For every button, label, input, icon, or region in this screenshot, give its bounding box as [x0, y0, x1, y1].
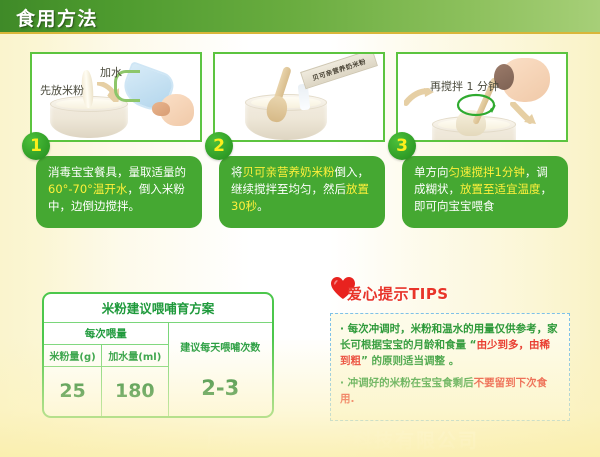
- feeding-table: 米粉建议喂哺育方案 每次喂量 建议每天喂哺次数 2-3 米粉量(g) 加水量(m…: [44, 294, 272, 417]
- step-1-illustration: 先放米粉 加水: [30, 52, 202, 142]
- step-1-desc-highlight: 60°-70°温开水: [48, 182, 127, 196]
- step-3-desc-highlight-0: 匀速搅拌1分钟: [449, 165, 525, 179]
- company-watermark: 广州百多邦医药科技有限公司: [0, 426, 600, 453]
- step-1-desc-part-0: 消毒宝宝餐具，量取适量的: [48, 165, 186, 179]
- step-2-desc-part-0: 将: [231, 165, 243, 179]
- step-3-illustration: 再搅拌 1 分钟: [396, 52, 568, 142]
- step-2-number-badge: 2: [205, 132, 233, 160]
- step-1-label-1: 加水: [100, 64, 122, 80]
- step-3-description: 单方向匀速搅拌1分钟，调成糊状，放置至适宜温度，即可向宝宝喂食: [402, 156, 568, 228]
- step-2-description: 将贝可亲营养奶米粉倒入，继续搅拌至均匀，然后放置30秒。: [219, 156, 385, 228]
- package-box: 贝可亲营养奶米粉: [300, 52, 378, 89]
- table-title: 米粉建议喂哺育方案: [44, 294, 272, 322]
- section-header-bar: 食用方法: [0, 0, 600, 34]
- step-3-number-badge: 3: [388, 132, 416, 160]
- tips-item-0: · 每次冲调时，米粉和温水的用量仅供参考，家长可根据宝宝的月龄和食量 “由少到多…: [340, 321, 560, 369]
- step-3-desc-highlight-1: 放置至适宜温度: [460, 182, 541, 196]
- tips-item-0-part-2: ” 的原则适当调整 。: [361, 355, 459, 367]
- thumb-shape: [152, 102, 170, 116]
- tips-item-1: · 冲调好的米粉在宝宝食剩后不要留到下次食用.: [340, 375, 560, 407]
- step-3-desc-part-0: 单方向: [414, 165, 449, 179]
- step-3-label-0: 再搅拌 1 分钟: [430, 78, 499, 94]
- table-group-header: 每次喂量: [44, 322, 168, 344]
- table-col-header-1: 加水量(ml): [102, 344, 168, 366]
- feeding-plan-table: 米粉建议喂哺育方案 每次喂量 建议每天喂哺次数 2-3 米粉量(g) 加水量(m…: [42, 292, 274, 418]
- table-value-1: 180: [102, 366, 168, 416]
- step-3: 再搅拌 1 分钟 3 单方向匀速搅拌1分钟，调成糊状，放置至适宜温度，即可向宝宝…: [396, 52, 574, 234]
- tips-content-box: · 每次冲调时，米粉和温水的用量仅供参考，家长可根据宝宝的月龄和食量 “由少到多…: [330, 313, 570, 421]
- table-value-0: 25: [44, 366, 102, 416]
- step-2-desc-part-4: 。: [257, 199, 269, 213]
- table-row-group-header: 每次喂量 建议每天喂哺次数 2-3: [44, 322, 272, 344]
- step-2-desc-highlight-0: 贝可亲营养奶米粉: [243, 165, 335, 179]
- page-background: 食用方法 先放米粉 加水 1: [0, 0, 600, 457]
- step-2: 贝可亲营养奶米粉 2 将贝可亲营养奶米粉倒入，继续搅拌至均匀，然后放置30秒。: [213, 52, 391, 234]
- table-right-value: 2-3: [169, 376, 272, 400]
- tips-item-1-part-0: · 冲调好的米粉在宝宝食剩后: [340, 377, 474, 389]
- stir-circle-arrow-icon: [456, 92, 498, 118]
- table-col-header-0: 米粉量(g): [44, 344, 102, 366]
- tips-title: 爱心提示TIPS: [347, 283, 449, 304]
- step-1: 先放米粉 加水 1 消毒宝宝餐具，量取适量的60°-70°温开水，倒入米粉中，边…: [30, 52, 208, 234]
- table-right-header: 建议每天喂哺次数: [169, 339, 272, 354]
- step-1-label-0: 先放米粉: [40, 82, 84, 98]
- step-1-number-badge: 1: [22, 132, 50, 160]
- step-1-description: 消毒宝宝餐具，量取适量的60°-70°温开水，倒入米粉中，边倒边搅拌。: [36, 156, 202, 228]
- table-row-title: 米粉建议喂哺育方案: [44, 294, 272, 322]
- table-right-header-cell: 建议每天喂哺次数 2-3: [168, 322, 272, 416]
- step-2-illustration: 贝可亲营养奶米粉: [213, 52, 385, 142]
- package-label: 贝可亲营养奶米粉: [311, 56, 367, 83]
- right-arrow-icon: [510, 102, 540, 126]
- page-title: 食用方法: [16, 4, 98, 31]
